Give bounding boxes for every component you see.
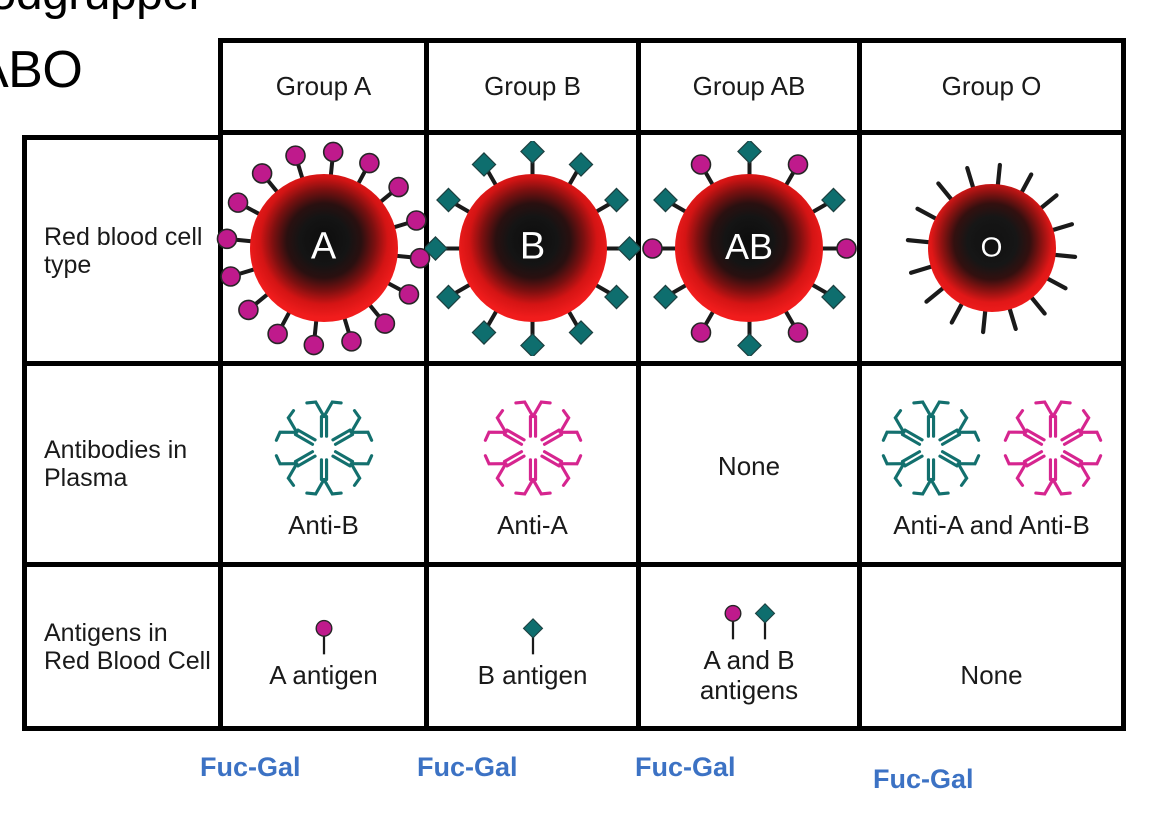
blood-type-table: Group A Group B Group AB Group O Red blo… xyxy=(22,38,1126,736)
cell-letter: O xyxy=(981,231,1003,263)
cell-antibodies-group-ab: None xyxy=(636,366,857,567)
fucgal-label-group-a: Fuc-Gal xyxy=(200,752,301,783)
cell-antigens-group-a: A antigen xyxy=(218,567,424,731)
antigen-marker-diamond xyxy=(520,617,546,657)
fucgal-label-group-b: Fuc-Gal xyxy=(417,752,518,783)
cell-antigens-group-ab: A and B antigens xyxy=(636,567,857,731)
red-blood-cell-o-icon: O xyxy=(899,156,1084,341)
column-header-group-o: Group O xyxy=(857,38,1126,135)
red-blood-cell-ab-icon: AB xyxy=(642,141,857,356)
row-label-antigens-in-red-blood-cell: Antigens in Red Blood Cell xyxy=(22,567,218,731)
column-header-group-a: Group A xyxy=(218,38,424,135)
antigen-caption: A and B antigens xyxy=(700,646,798,704)
antibody-caption: None xyxy=(718,452,780,481)
antibody-rosette xyxy=(994,389,1112,507)
column-header-group-b: Group B xyxy=(424,38,636,135)
column-header-label: Group AB xyxy=(693,71,806,102)
antibody-caption: Anti-A xyxy=(497,511,568,540)
table-row-antigens-in-red-blood-cell: Antigens in Red Blood Cell A antigen B a… xyxy=(22,567,1126,731)
table-row-red-blood-cell-type: Red blood cell type A B xyxy=(22,135,1126,366)
header-corner-spacer xyxy=(22,38,218,135)
table-row-antibodies-in-plasma: Antibodies in Plasma Anti-B Anti-A None … xyxy=(22,366,1126,567)
cell-rbc-group-a: A xyxy=(218,135,424,366)
antigen-caption-line2: antigens xyxy=(700,675,798,705)
cell-antibodies-group-b: Anti-A xyxy=(424,366,636,567)
cell-letter: A xyxy=(311,226,336,269)
antigen-caption: None xyxy=(960,661,1022,690)
antibody-cluster-anti-a-and-anti-b-icon xyxy=(872,389,1112,507)
antigen-marker-circle xyxy=(720,602,746,642)
antibody-cluster-anti-b-icon xyxy=(265,389,383,507)
fucgal-label-group-o: Fuc-Gal xyxy=(873,764,974,795)
antibody-rosette xyxy=(872,389,990,507)
table-header-row: Group A Group B Group AB Group O xyxy=(22,38,1126,135)
cell-antigens-group-b: B antigen xyxy=(424,567,636,731)
page-title: Blodgrupper xyxy=(0,0,204,21)
red-blood-cell-a-icon: A xyxy=(216,141,431,356)
antibody-caption: Anti-B xyxy=(288,511,359,540)
fucgal-label-row: Fuc-Gal Fuc-Gal Fuc-Gal Fuc-Gal xyxy=(22,752,1126,812)
cell-letter: AB xyxy=(725,226,773,268)
cell-antibodies-group-a: Anti-B xyxy=(218,366,424,567)
column-header-group-ab: Group AB xyxy=(636,38,857,135)
row-label-red-blood-cell-type: Red blood cell type xyxy=(22,135,218,366)
antigen-marker-diamond xyxy=(752,602,778,642)
red-blood-cell-b-icon: B xyxy=(425,141,640,356)
cell-rbc-group-b: B xyxy=(424,135,636,366)
antigen-caption: B antigen xyxy=(478,661,588,690)
page-title-clip: Blodgrupper xyxy=(0,0,215,26)
cell-letter: B xyxy=(520,226,545,269)
column-header-label: Group B xyxy=(484,71,581,102)
antibody-rosette xyxy=(474,389,592,507)
antigen-marker-a-icon xyxy=(311,603,337,657)
column-header-label: Group O xyxy=(942,71,1042,102)
fucgal-label-group-ab: Fuc-Gal xyxy=(635,752,736,783)
cell-antigens-group-o: None xyxy=(857,567,1126,731)
antigen-caption: A antigen xyxy=(269,661,377,690)
row-label-text: Red blood cell type xyxy=(44,223,218,279)
antibody-cluster-anti-a-icon xyxy=(474,389,592,507)
row-label-antibodies-in-plasma: Antibodies in Plasma xyxy=(22,366,218,567)
antibody-caption: Anti-A and Anti-B xyxy=(893,511,1090,540)
cell-rbc-group-ab: AB xyxy=(636,135,857,366)
row-label-text: Antibodies in Plasma xyxy=(44,436,218,492)
antibody-rosette xyxy=(265,389,383,507)
cell-antibodies-group-o: Anti-A and Anti-B xyxy=(857,366,1126,567)
antigen-marker-circle xyxy=(311,617,337,657)
antigen-marker-b-icon xyxy=(520,603,546,657)
column-header-label: Group A xyxy=(276,71,371,102)
antigen-marker-ab-icon xyxy=(720,588,778,642)
antigen-caption-line1: A and B xyxy=(703,645,794,675)
cell-rbc-group-o: O xyxy=(857,135,1126,366)
row-label-text: Antigens in Red Blood Cell xyxy=(44,619,218,675)
